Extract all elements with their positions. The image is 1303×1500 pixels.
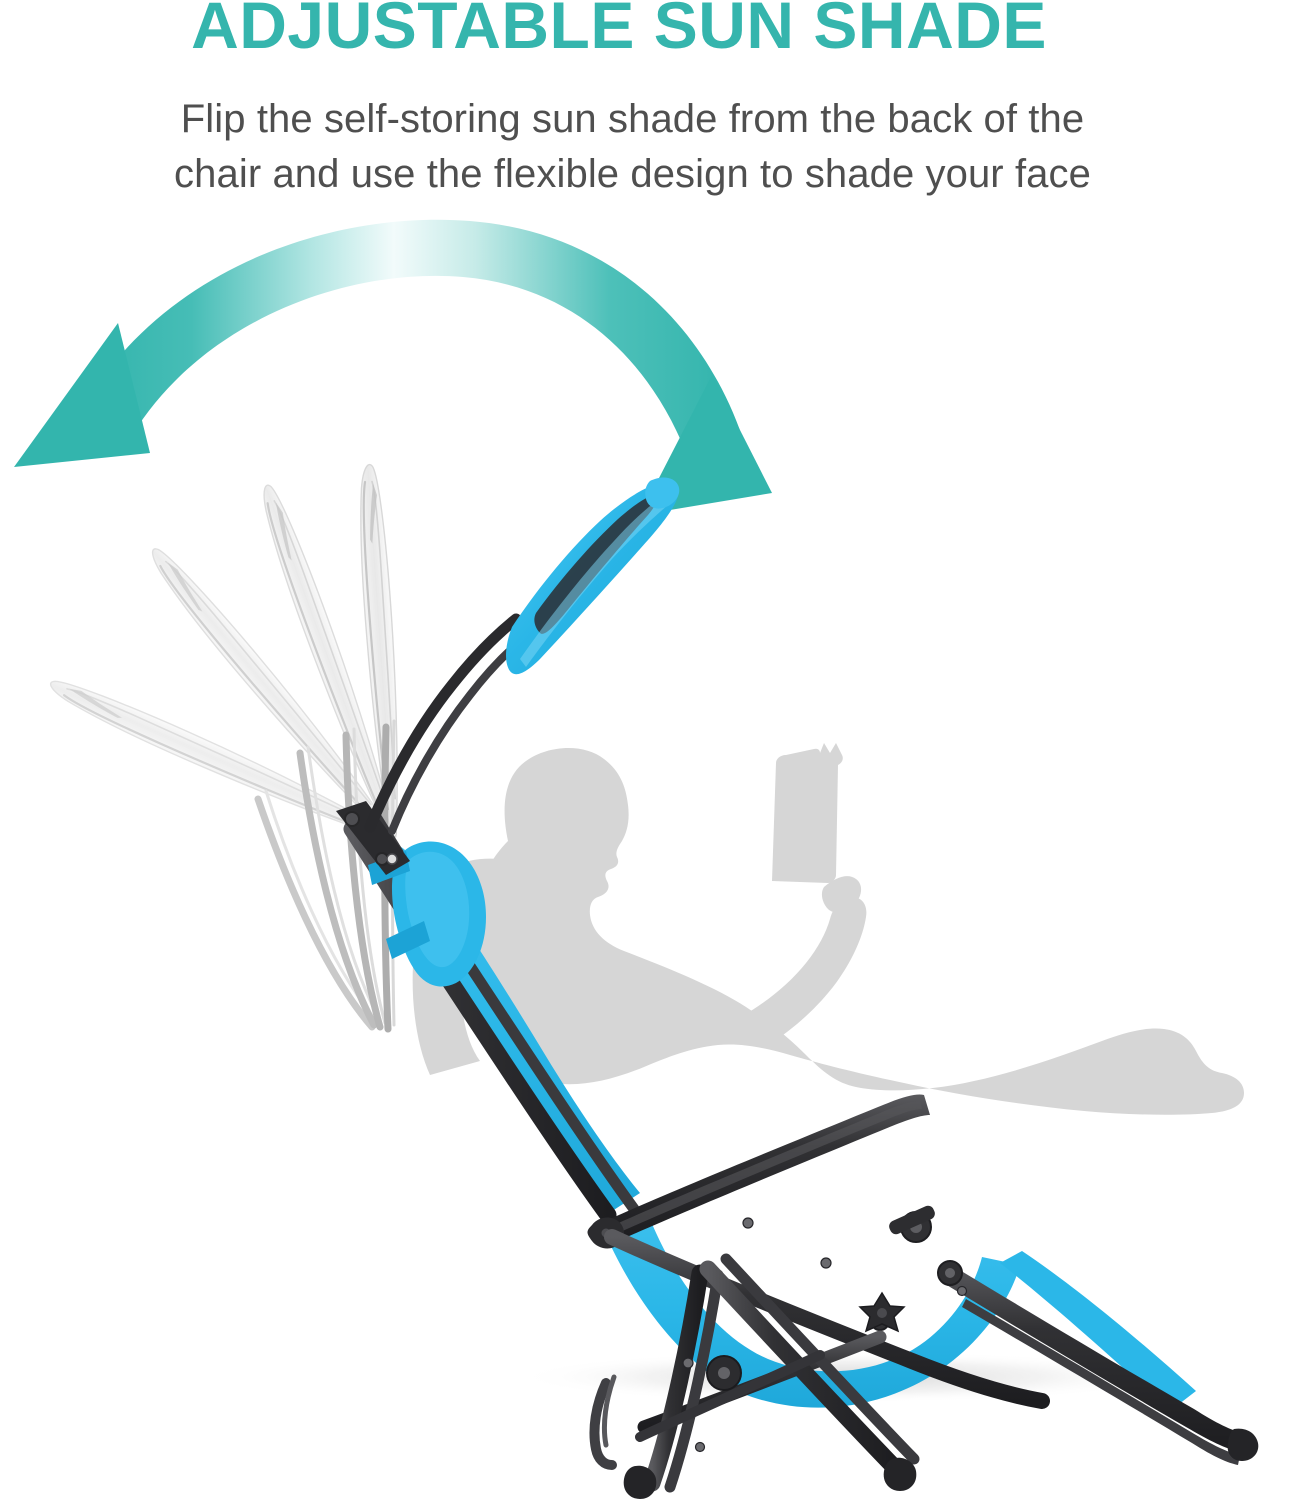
infographic-page: ADJUSTABLE SUN SHADE Flip the self-stori… bbox=[0, 0, 1303, 1500]
silhouette-forearm bbox=[744, 897, 866, 1045]
shade-pivot-rivet bbox=[387, 854, 397, 864]
sun-shade-ghost-positions bbox=[45, 464, 407, 1029]
product-illustration bbox=[0, 215, 1303, 1500]
page-title: ADJUSTABLE SUN SHADE bbox=[0, 0, 1238, 64]
subtitle-line-1: Flip the self-storing sun shade from the… bbox=[0, 92, 1265, 147]
header-block: ADJUSTABLE SUN SHADE Flip the self-stori… bbox=[0, 0, 1303, 215]
silhouette-book bbox=[772, 743, 843, 883]
subtitle-line-2: chair and use the flexible design to sha… bbox=[0, 147, 1265, 202]
page-subtitle: Flip the self-storing sun shade from the… bbox=[0, 92, 1265, 202]
arc-arrow-band bbox=[70, 220, 745, 463]
leg-scissor-hinge bbox=[707, 1356, 741, 1390]
armrest-hinge bbox=[887, 1204, 937, 1242]
rotation-arrow-group bbox=[14, 220, 772, 515]
armrest bbox=[588, 1095, 937, 1249]
arrow-head-left bbox=[14, 323, 150, 467]
